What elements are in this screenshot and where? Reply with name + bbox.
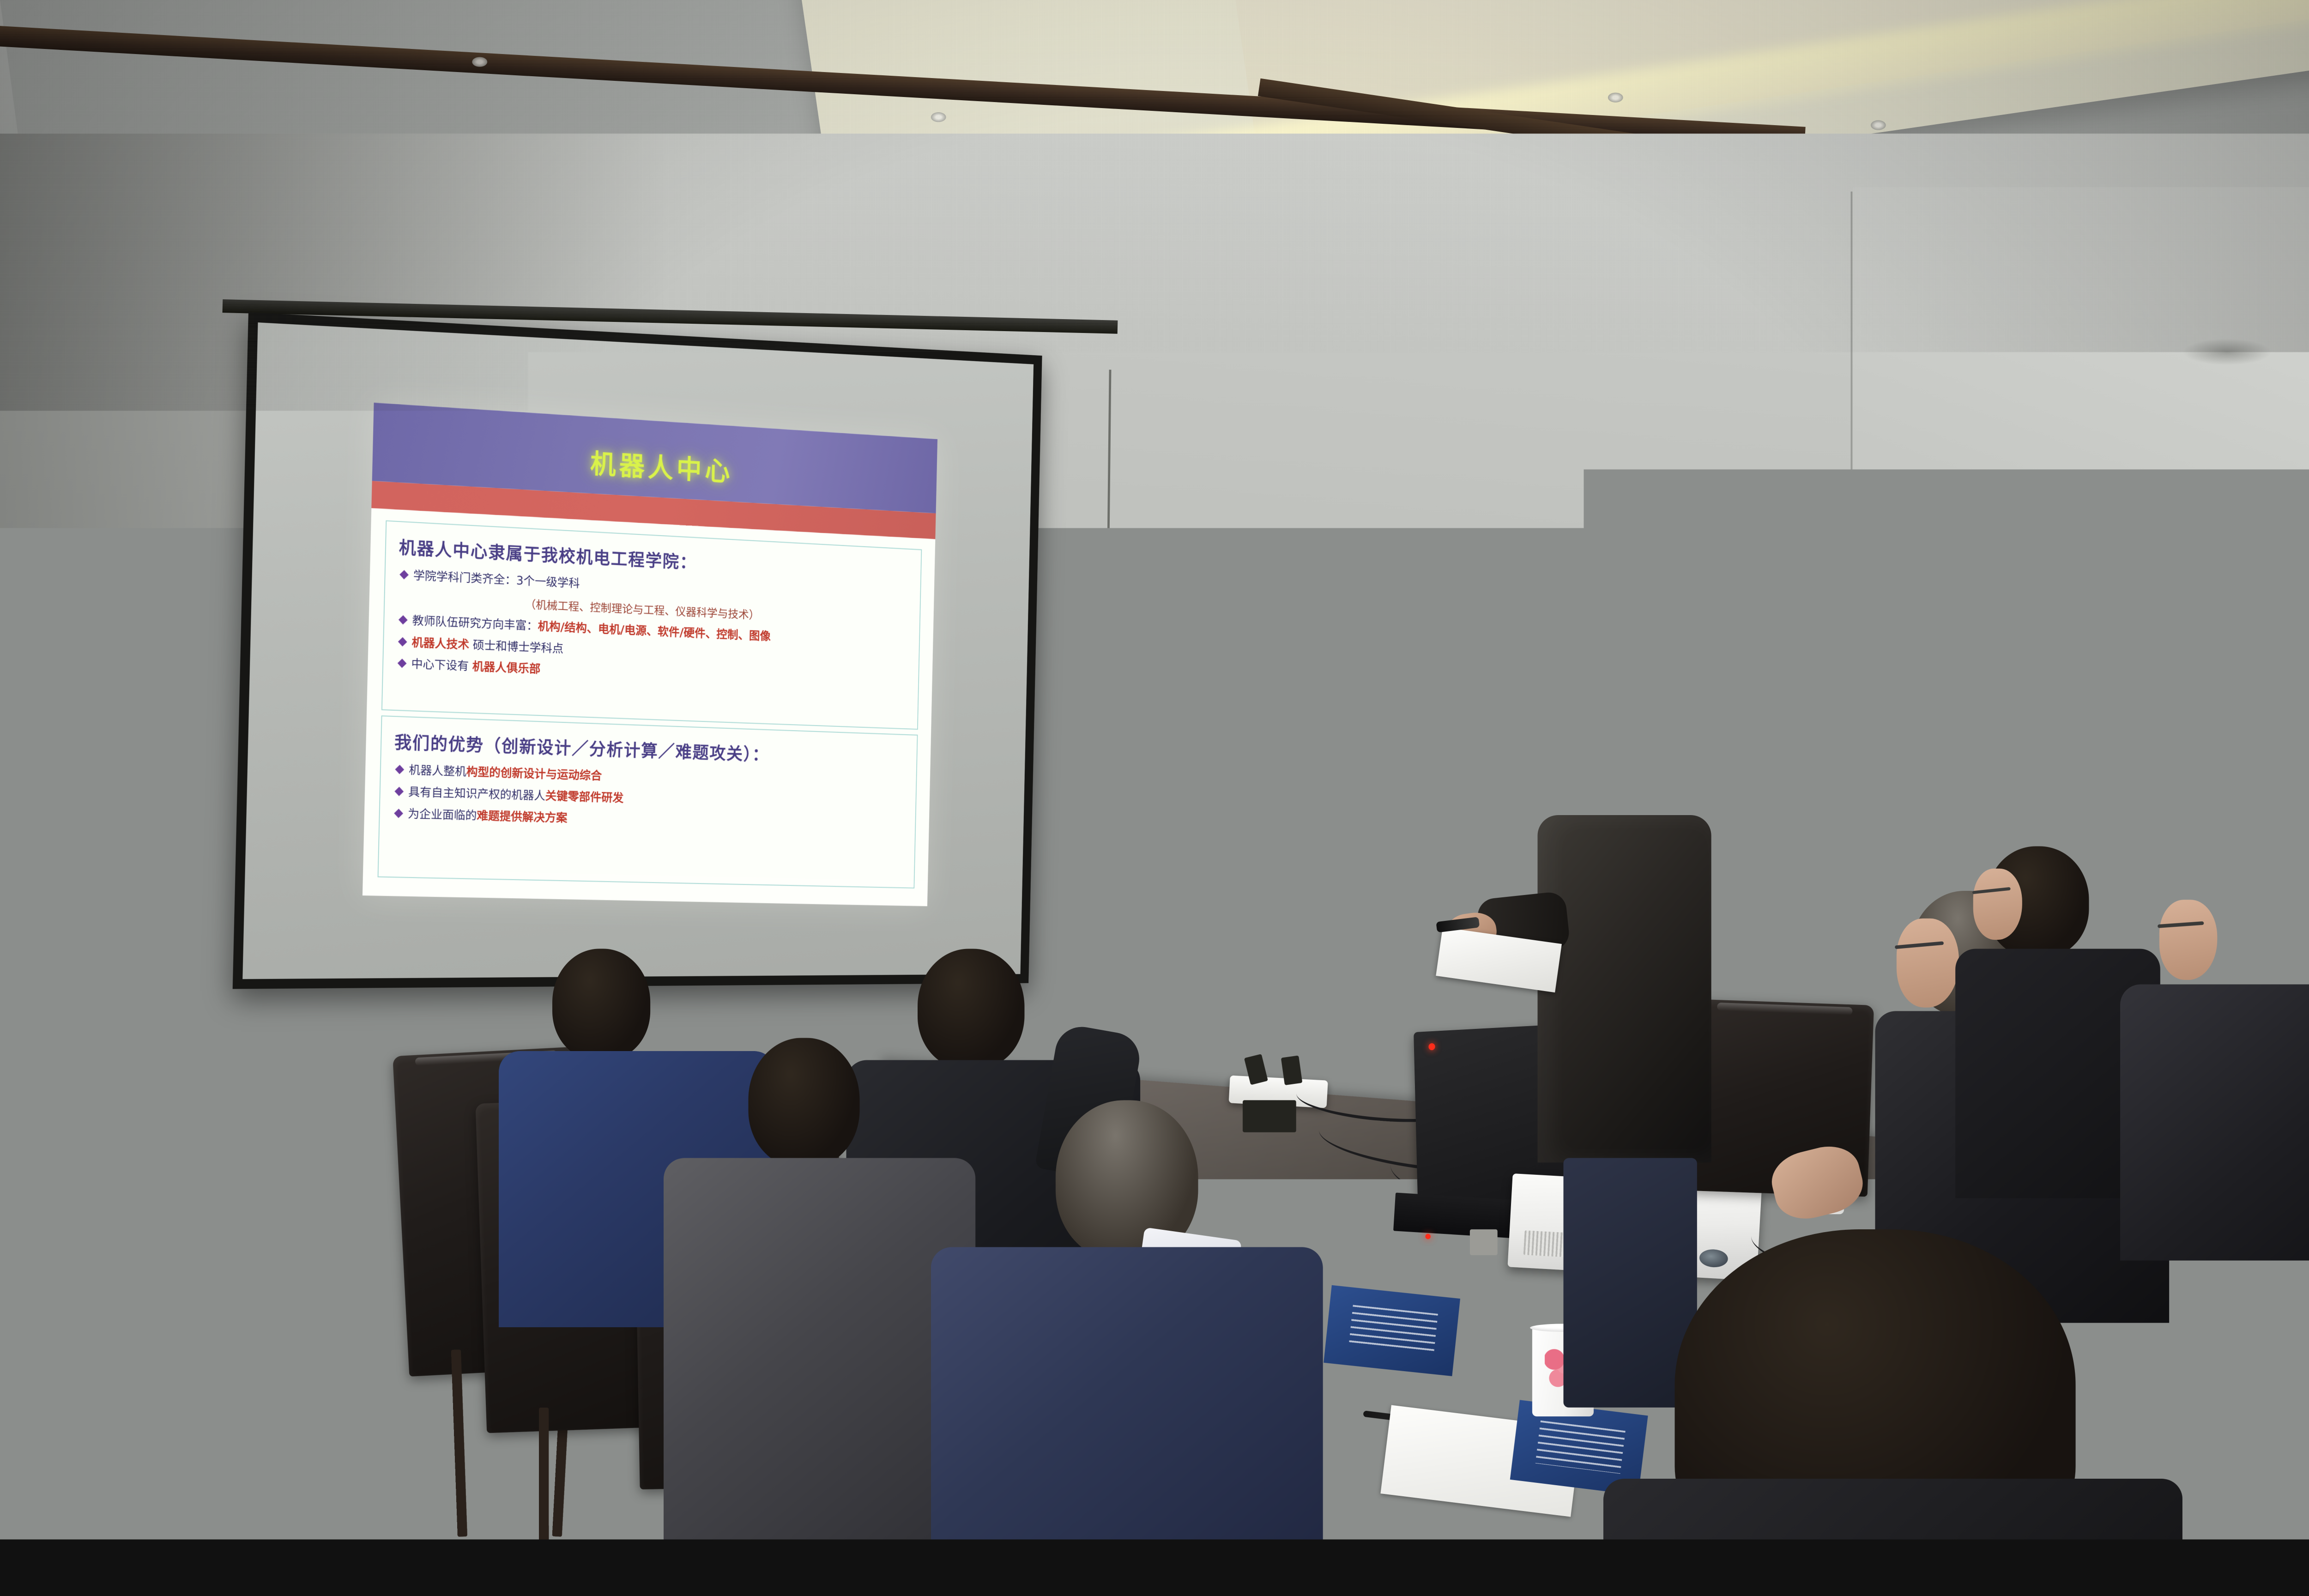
slide-bullet-emphasis: 机构/结构、电机/电源、软件/硬件、控制、图像: [538, 620, 771, 643]
slide-bullet-text: 教师队伍研究方向丰富：: [412, 614, 538, 633]
room-ambient-shadow: [0, 846, 2309, 1336]
bullet-diamond-icon: [398, 637, 407, 646]
slide-section-1: 机器人中心隶属于我校机电工程学院： 学院学科门类齐全：3个一级学科 （机械工程、…: [381, 520, 922, 730]
slide-bullet-emphasis: 硕士和博士学科点: [469, 638, 564, 656]
chair-leg: [539, 1408, 549, 1539]
slide-bullet-text: 学院学科门类齐全：3个一级学科: [413, 568, 580, 591]
paint-mark: [1254, 704, 1263, 716]
slide-section-heading: 我们的优势（创新设计／分析计算／难题攻关）：: [394, 728, 905, 770]
conference-room-scene: 机器人中心 机器人中心隶属于我校机电工程学院： 学院学科门类齐全：3个一级学科 …: [0, 0, 2309, 1539]
projected-slide: 机器人中心 机器人中心隶属于我校机电工程学院： 学院学科门类齐全：3个一级学科 …: [363, 403, 937, 907]
attendee-hand: [71, 1376, 129, 1425]
screen-cord-weight[interactable]: [1104, 704, 1113, 742]
slide-bullet-text: 机器人整机: [409, 763, 466, 779]
bullet-diamond-icon: [399, 570, 409, 579]
slide-bullet-emphasis: 关键零部件研发: [545, 789, 623, 805]
downlight-icon: [931, 112, 946, 122]
downlight-icon: [1871, 120, 1886, 130]
wall-outlet-secondary[interactable]: [1100, 664, 1120, 694]
slide-bullet-emphasis: 机器人俱乐部: [472, 660, 541, 676]
slide-bullet-emphasis: 构型的创新设计与运动综合: [466, 765, 602, 783]
bullet-diamond-icon: [395, 765, 404, 774]
bullet-diamond-icon: [394, 786, 404, 796]
bullet-diamond-icon: [399, 615, 408, 624]
slide-bullet-text: 中心下设有: [411, 658, 472, 674]
attendee-bottom-right-torso: [1603, 1479, 2182, 1539]
slide-body: 机器人中心隶属于我校机电工程学院： 学院学科门类齐全：3个一级学科 （机械工程、…: [363, 508, 935, 881]
bullet-diamond-icon: [398, 659, 407, 668]
downlight-icon: [1608, 93, 1623, 103]
slide-bullet-text: 具有自主知识产权的机器人: [408, 785, 545, 803]
notebook-text-lines: [1535, 1420, 1626, 1474]
wall-scuff-mark: [2182, 339, 2272, 365]
slide-bullet-text: 为企业面临的: [408, 807, 477, 822]
slide-bullet-text: 机器人技术: [411, 635, 469, 652]
slide-bullet-emphasis: 难题提供解决方案: [477, 809, 568, 825]
bullet-diamond-icon: [394, 809, 403, 818]
downlight-icon: [472, 57, 487, 66]
